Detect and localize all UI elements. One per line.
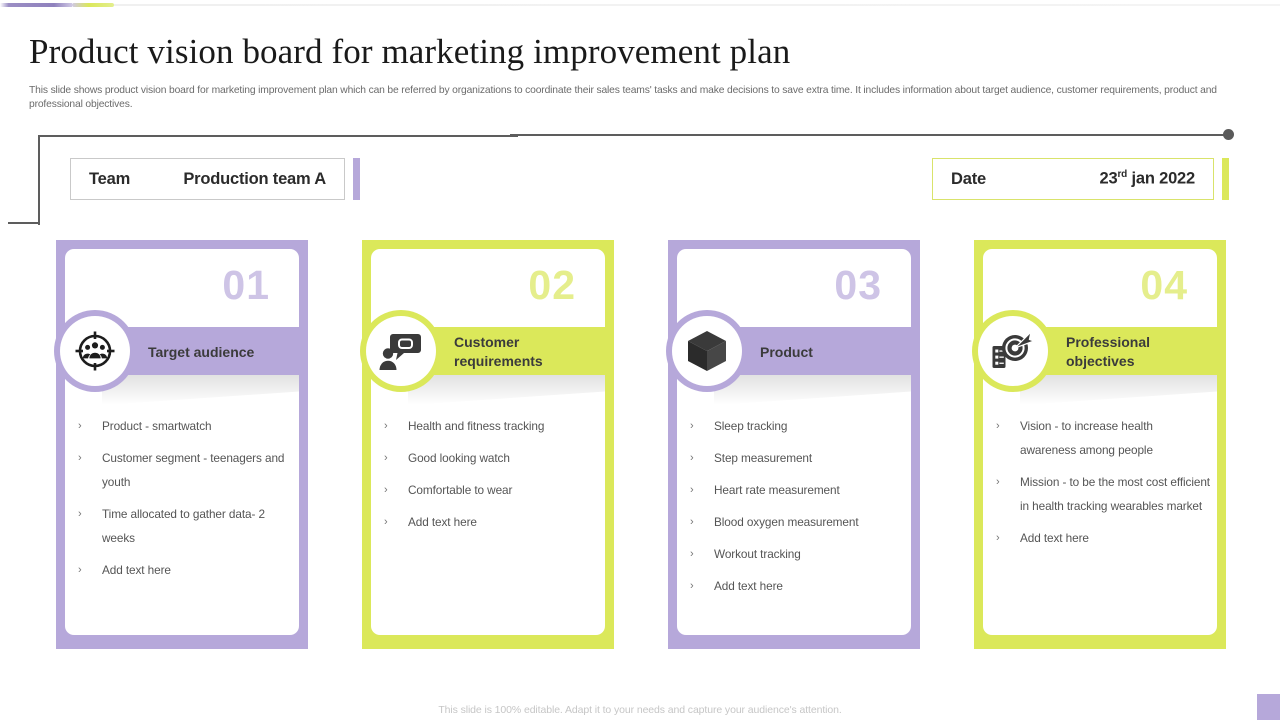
chevron-right-icon: ›	[690, 542, 694, 566]
card-customer-requirements[interactable]: 02 Customer requirements ›Health and fit…	[362, 240, 614, 649]
list-item: ›Vision - to increase health awareness a…	[996, 414, 1210, 462]
page-title: Product vision board for marketing impro…	[29, 30, 790, 74]
chevron-right-icon: ›	[384, 414, 388, 438]
list-item: ›Time allocated to gather data- 2 weeks	[78, 502, 292, 550]
card-icon-badge	[60, 316, 130, 386]
date-field[interactable]: Date 23rd jan 2022	[932, 158, 1229, 200]
card-product[interactable]: 03 Product ›Sleep tracking ›Step measure…	[668, 240, 920, 649]
list-item: ›Sleep tracking	[690, 414, 904, 438]
chevron-right-icon: ›	[690, 446, 694, 470]
chevron-right-icon: ›	[690, 478, 694, 502]
corner-decoration	[1257, 694, 1280, 720]
team-field-box[interactable]: Team Production team A	[70, 158, 345, 200]
list-item: ›Add text here	[996, 526, 1210, 550]
goal-checklist-icon	[991, 330, 1035, 372]
card-number: 04	[1140, 262, 1188, 309]
list-item-text: Mission - to be the most cost efficient …	[1020, 475, 1210, 513]
card-icon-badge	[978, 316, 1048, 386]
list-item-text: Step measurement	[714, 451, 812, 465]
card-title: Professional objectives	[1066, 328, 1214, 376]
chevron-right-icon: ›	[78, 502, 82, 526]
box-3d-icon	[686, 329, 728, 373]
meta-end-dot	[1223, 129, 1234, 140]
list-item-text: Heart rate measurement	[714, 483, 840, 497]
list-item: ›Health and fitness tracking	[384, 414, 598, 438]
list-item-text: Health and fitness tracking	[408, 419, 544, 433]
card-title: Product	[760, 328, 908, 376]
chevron-right-icon: ›	[996, 414, 1000, 438]
list-item: ›Workout tracking	[690, 542, 904, 566]
chevron-right-icon: ›	[78, 558, 82, 582]
list-item-text: Add text here	[408, 515, 477, 529]
list-item: ›Add text here	[690, 574, 904, 598]
meta-bracket-foot	[8, 222, 40, 224]
list-item-text: Good looking watch	[408, 451, 510, 465]
chevron-right-icon: ›	[78, 414, 82, 438]
date-field-value: 23rd jan 2022	[1100, 169, 1195, 189]
card-number: 02	[528, 262, 576, 309]
card-bullet-list: ›Sleep tracking ›Step measurement ›Heart…	[690, 414, 904, 606]
chevron-right-icon: ›	[78, 446, 82, 470]
chevron-right-icon: ›	[996, 470, 1000, 494]
card-icon-badge	[672, 316, 742, 386]
card-bullet-list: ›Health and fitness tracking ›Good looki…	[384, 414, 598, 542]
list-item-text: Add text here	[714, 579, 783, 593]
card-target-audience[interactable]: 01 Target audience	[56, 240, 308, 649]
list-item: ›Heart rate measurement	[690, 478, 904, 502]
list-item-text: Customer segment - teenagers and youth	[102, 451, 284, 489]
slide: Product vision board for marketing impro…	[0, 0, 1280, 720]
card-icon-ring	[54, 310, 136, 392]
list-item-text: Vision - to increase health awareness am…	[1020, 419, 1153, 457]
date-field-box[interactable]: Date 23rd jan 2022	[932, 158, 1214, 200]
list-item: ›Add text here	[78, 558, 292, 582]
meta-horizontal-rule	[510, 134, 1224, 136]
list-item-text: Workout tracking	[714, 547, 801, 561]
customer-feedback-icon	[379, 331, 423, 371]
chevron-right-icon: ›	[690, 414, 694, 438]
card-bullet-list: ›Product - smartwatch ›Customer segment …	[78, 414, 292, 590]
list-item-text: Blood oxygen measurement	[714, 515, 859, 529]
date-field-label: Date	[951, 170, 986, 189]
list-item: ›Comfortable to wear	[384, 478, 598, 502]
team-field-value: Production team A	[183, 170, 326, 189]
top-bar-grey-rule	[114, 4, 1280, 6]
chevron-right-icon: ›	[996, 526, 1000, 550]
chevron-right-icon: ›	[384, 510, 388, 534]
list-item-text: Comfortable to wear	[408, 483, 512, 497]
chevron-right-icon: ›	[690, 574, 694, 598]
list-item: ›Product - smartwatch	[78, 414, 292, 438]
list-item: ›Mission - to be the most cost efficient…	[996, 470, 1210, 518]
date-field-accent-bar	[1222, 158, 1229, 200]
card-icon-ring	[666, 310, 748, 392]
top-decorative-bar	[0, 3, 1280, 7]
card-number: 01	[222, 262, 270, 309]
top-bar-purple-segment	[0, 3, 72, 7]
card-bullet-list: ›Vision - to increase health awareness a…	[996, 414, 1210, 558]
team-field-label: Team	[89, 170, 160, 189]
chevron-right-icon: ›	[690, 510, 694, 534]
chevron-right-icon: ›	[384, 478, 388, 502]
card-number: 03	[834, 262, 882, 309]
list-item: ›Add text here	[384, 510, 598, 534]
list-item-text: Time allocated to gather data- 2 weeks	[102, 507, 265, 545]
target-audience-icon	[73, 329, 117, 373]
page-subtitle: This slide shows product vision board fo…	[29, 84, 1221, 111]
card-professional-objectives[interactable]: 04 Professional objectives	[974, 240, 1226, 649]
chevron-right-icon: ›	[384, 446, 388, 470]
footer-note: This slide is 100% editable. Adapt it to…	[0, 704, 1280, 716]
list-item-text: Sleep tracking	[714, 419, 787, 433]
list-item: ›Step measurement	[690, 446, 904, 470]
date-value-ordinal: rd	[1117, 169, 1127, 180]
team-field[interactable]: Team Production team A	[70, 158, 360, 200]
card-title: Target audience	[148, 328, 296, 376]
top-bar-lime-segment	[72, 3, 114, 7]
list-item-text: Product - smartwatch	[102, 419, 211, 433]
list-item: ›Good looking watch	[384, 446, 598, 470]
card-icon-ring	[360, 310, 442, 392]
card-title: Customer requirements	[454, 328, 602, 376]
card-icon-ring	[972, 310, 1054, 392]
date-value-number: 23	[1100, 170, 1118, 188]
team-field-accent-bar	[353, 158, 360, 200]
card-icon-badge	[366, 316, 436, 386]
list-item: ›Customer segment - teenagers and youth	[78, 446, 292, 494]
list-item: ›Blood oxygen measurement	[690, 510, 904, 534]
list-item-text: Add text here	[1020, 531, 1089, 545]
date-value-rest: jan 2022	[1127, 170, 1195, 188]
list-item-text: Add text here	[102, 563, 171, 577]
